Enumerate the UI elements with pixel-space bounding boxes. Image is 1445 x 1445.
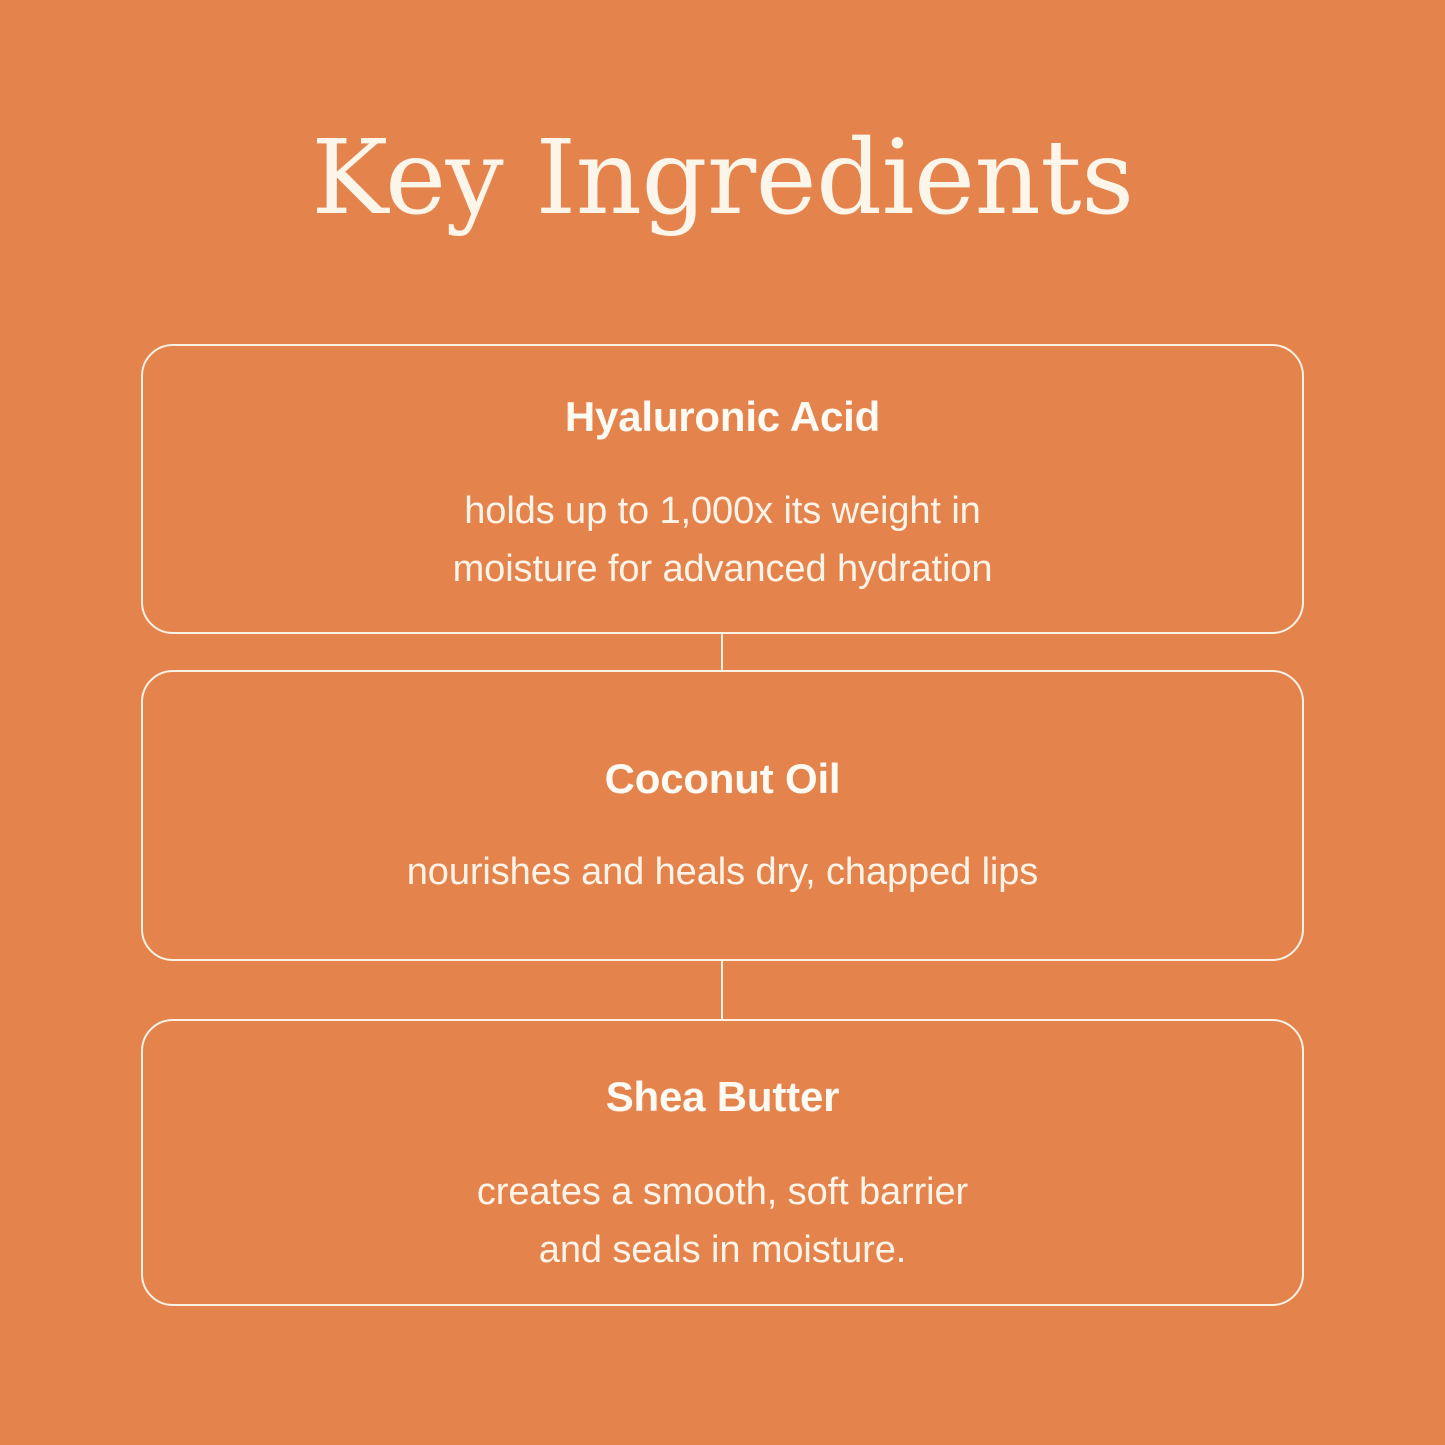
ingredient-name: Coconut Oil [605,755,841,803]
ingredient-description: holds up to 1,000x its weight in moistur… [453,482,993,598]
ingredient-description: nourishes and heals dry, chapped lips [407,843,1038,901]
ingredient-card-coconut-oil: Coconut Oil nourishes and heals dry, cha… [141,670,1304,961]
ingredient-name: Hyaluronic Acid [565,393,880,441]
page-title: Key Ingredients [0,118,1445,240]
connector-line-1 [721,632,723,672]
ingredient-name: Shea Butter [606,1073,840,1121]
ingredient-card-shea-butter: Shea Butter creates a smooth, soft barri… [141,1019,1304,1306]
connector-line-2 [721,959,723,1021]
ingredient-card-hyaluronic-acid: Hyaluronic Acid holds up to 1,000x its w… [141,344,1304,634]
key-ingredients-infographic: Key Ingredients Hyaluronic Acid holds up… [0,0,1445,1445]
ingredient-description: creates a smooth, soft barrier and seals… [477,1163,968,1279]
